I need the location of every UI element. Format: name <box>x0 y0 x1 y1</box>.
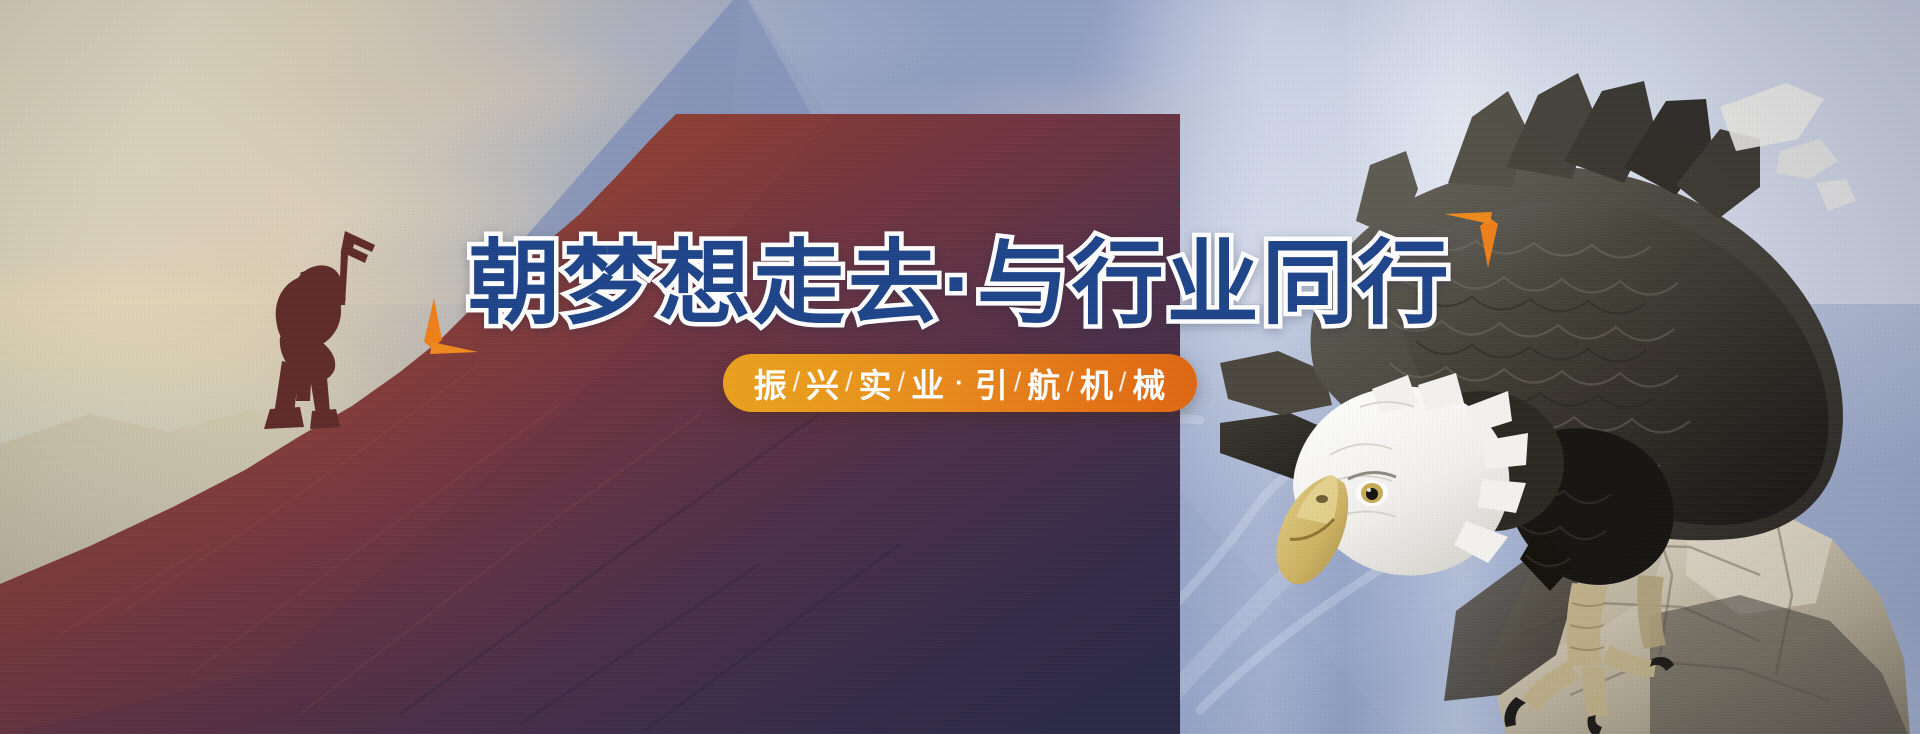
grain-overlay <box>0 0 1920 734</box>
hero-banner: 朝梦想走去·与行业同行 振 / 兴 / 实 / 业 · 引 / 航 / 机 <box>0 0 1920 734</box>
